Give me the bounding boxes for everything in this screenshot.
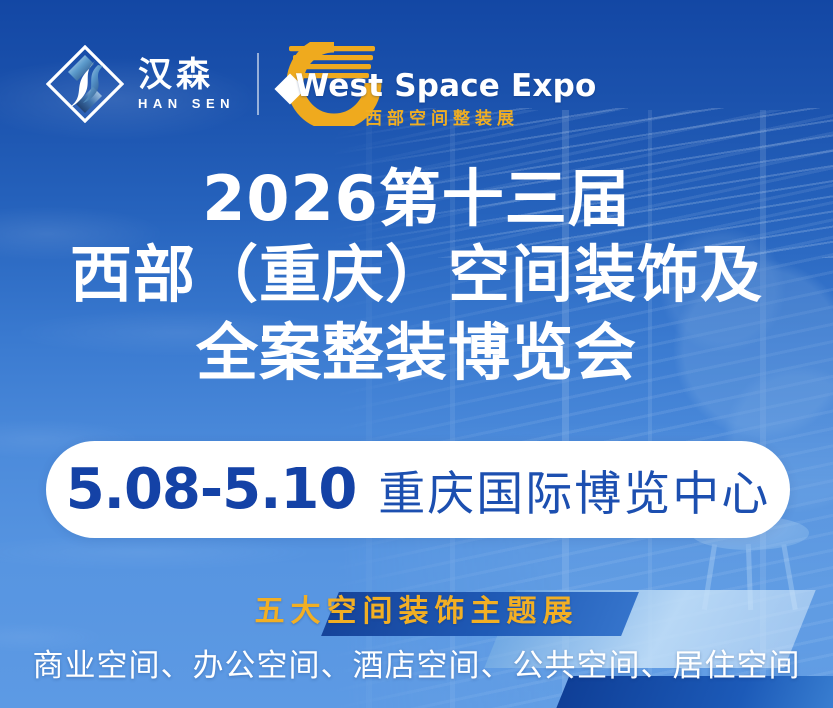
vertical-divider [257,53,259,115]
title-line-1: 2026第十三届 [0,162,833,236]
spaces-list: 商业空间、办公空间、酒店空间、公共空间、居住空间 [0,640,833,685]
hansen-name-en: HAN SEN [138,97,235,110]
west-space-expo-mark: West Space Expo 西部空间整装展 [279,42,519,126]
hansen-logo: 汉森 HAN SEN [46,45,235,123]
themes-heading: 五大空间装饰主题展 [0,586,833,630]
hansen-name-cn: 汉森 [138,58,235,92]
event-venue: 重庆国际博览中心 [378,455,770,524]
page-title: 2026第十三届 西部（重庆）空间装饰及 全案整装博览会 [0,162,833,392]
logo-bar: 汉森 HAN SEN [46,42,519,126]
hansen-diamond-logo-icon [46,45,124,123]
west-space-expo-logo: West Space Expo 西部空间整装展 [279,42,519,126]
expo-name-en: West Space Expo [295,68,533,104]
event-date: 5.08-5.10 [66,457,357,522]
title-line-2: 西部（重庆）空间装饰及 [0,236,833,314]
expo-promo-banner: 汉森 HAN SEN [0,0,833,708]
title-line-3: 全案整装博览会 [0,314,833,392]
hansen-wordmark: 汉森 HAN SEN [138,58,235,110]
expo-name-cn: 西部空间整装展 [365,104,519,129]
date-venue-pill: 5.08-5.10 重庆国际博览中心 [46,441,790,538]
